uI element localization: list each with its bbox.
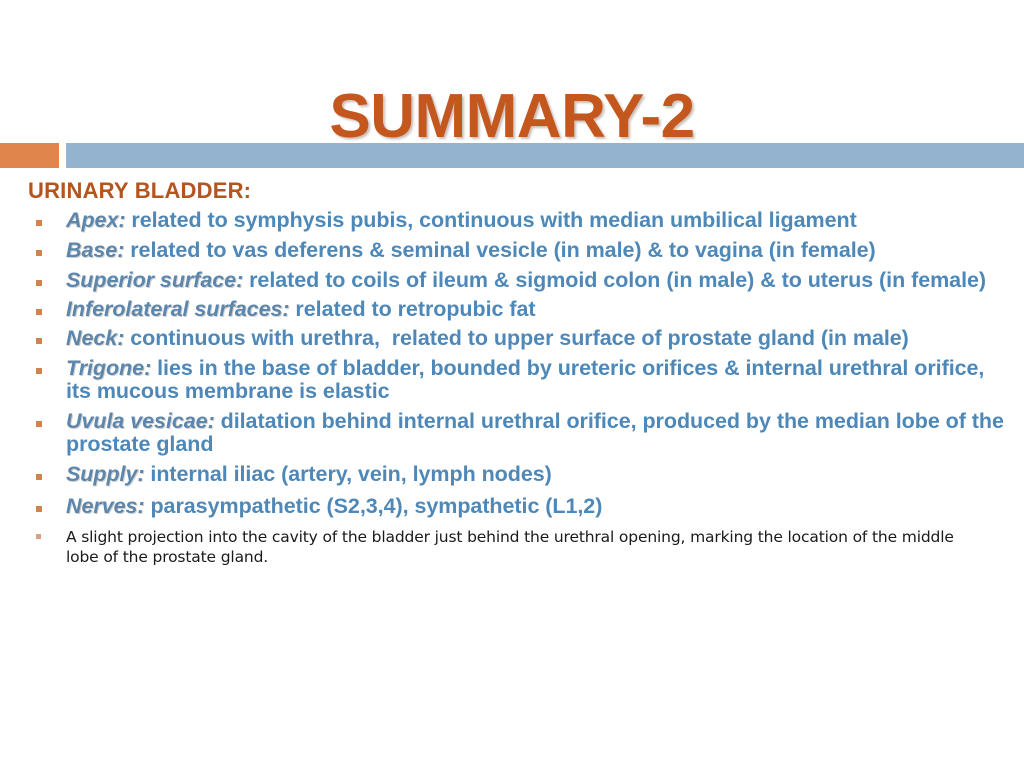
bullet-label: Uvula vesicae: — [66, 409, 215, 433]
bullet-label: Base: — [66, 238, 124, 262]
bullet-text: lies in the base of bladder, bounded by … — [66, 356, 990, 404]
square-bullet-icon — [36, 280, 42, 286]
square-bullet-icon — [36, 368, 42, 374]
list-item: Uvula vesicae: dilatation behind interna… — [0, 410, 1024, 457]
bullet-text: parasympathetic (S2,3,4), sympathetic (L… — [145, 494, 603, 518]
square-bullet-icon — [36, 250, 42, 256]
bullet-text: internal iliac (artery, vein, lymph node… — [144, 462, 551, 486]
divider-accent-block — [0, 143, 59, 168]
bullet-text: related to symphysis pubis, continuous w… — [125, 208, 856, 232]
bullet-text: related to coils of ileum & sigmoid colo… — [243, 268, 986, 292]
list-item: Trigone: lies in the base of bladder, bo… — [0, 357, 1024, 404]
square-bullet-icon — [36, 220, 42, 226]
bullet-text: related to vas deferens & seminal vesicl… — [124, 238, 875, 262]
square-bullet-icon — [36, 506, 42, 512]
list-item: Nerves: parasympathetic (S2,3,4), sympat… — [0, 495, 1024, 519]
list-item: Base: related to vas deferens & seminal … — [0, 239, 1024, 263]
divider-bar — [66, 143, 1024, 168]
slide-canvas: SUMMARY-2 URINARY BLADDER: Apex: related… — [0, 0, 1024, 768]
bullet-label: Trigone: — [66, 356, 151, 380]
bullet-label: Supply: — [66, 462, 144, 486]
square-bullet-icon — [36, 474, 42, 480]
list-item: Apex: related to symphysis pubis, contin… — [0, 209, 1024, 233]
slide-body: URINARY BLADDER: Apex: related to symphy… — [0, 178, 1024, 570]
bullet-label: Inferolateral surfaces: — [66, 297, 290, 321]
list-item: Neck: continuous with urethra, related t… — [0, 327, 1024, 351]
bullet-label: Superior surface: — [66, 268, 243, 292]
square-bullet-icon — [36, 534, 41, 539]
square-bullet-icon — [36, 421, 42, 427]
bullet-text: continuous with urethra, related to uppe… — [124, 326, 908, 350]
list-item-note: A slight projection into the cavity of t… — [0, 527, 1024, 567]
square-bullet-icon — [36, 338, 42, 344]
bullet-label: Nerves: — [66, 494, 145, 518]
page-title: SUMMARY-2 — [329, 86, 694, 148]
list-item: Supply: internal iliac (artery, vein, ly… — [0, 463, 1024, 487]
bullet-text: related to retropubic fat — [290, 297, 536, 321]
bullet-list: Apex: related to symphysis pubis, contin… — [0, 209, 1024, 567]
note-text: A slight projection into the cavity of t… — [66, 528, 959, 566]
bullet-label: Neck: — [66, 326, 124, 350]
bullet-label: Apex: — [66, 208, 125, 232]
list-item: Superior surface: related to coils of il… — [0, 269, 1024, 293]
section-heading: URINARY BLADDER: — [28, 178, 1024, 203]
title-divider — [0, 143, 1024, 168]
list-item: Inferolateral surfaces: related to retro… — [0, 298, 1024, 322]
square-bullet-icon — [36, 309, 42, 315]
